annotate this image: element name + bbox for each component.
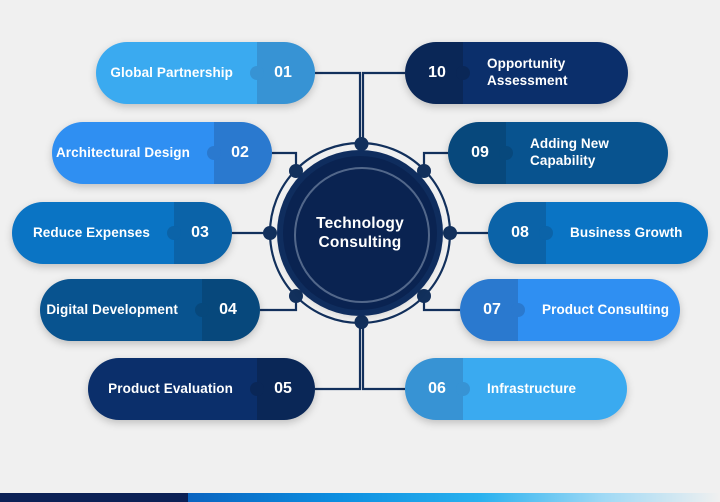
node-dot-bottom (355, 315, 369, 329)
item-02-label: Architectural Design (56, 145, 190, 162)
item-07-number: 07 (483, 301, 501, 319)
item-08[interactable]: 08 Business Growth (488, 202, 708, 264)
item-10-label-line2: Assessment (487, 73, 568, 90)
item-10[interactable]: 10 Opportunity Assessment (405, 42, 628, 104)
item-10-number: 10 (428, 64, 446, 82)
item-06[interactable]: 06 Infrastructure (405, 358, 627, 420)
item-04-number-badge: 04 (202, 279, 260, 341)
item-06-number-badge: 06 (405, 358, 463, 420)
item-07-label: Product Consulting (542, 302, 669, 319)
wire-05 (315, 323, 360, 389)
item-06-body: Infrastructure (463, 358, 627, 420)
item-03-body: Reduce Expenses (12, 202, 174, 264)
item-09-body: Adding New Capability (506, 122, 668, 184)
item-05-number-badge: 05 (257, 358, 315, 420)
item-02-body: Architectural Design (52, 122, 214, 184)
item-10-label-line1: Opportunity (487, 56, 565, 73)
wire-10 (363, 73, 405, 143)
item-01-number: 01 (274, 64, 292, 82)
item-06-number: 06 (428, 380, 446, 398)
item-08-label: Business Growth (570, 225, 683, 242)
node-dot-left (263, 226, 277, 240)
item-09-number: 09 (471, 144, 489, 162)
item-04-label: Digital Development (46, 302, 178, 319)
item-08-body: Business Growth (546, 202, 708, 264)
item-05-label: Product Evaluation (108, 381, 233, 398)
node-dot-upper-left (289, 164, 303, 178)
item-07-body: Product Consulting (518, 279, 680, 341)
bottom-bar-navy-segment (0, 493, 188, 502)
item-07[interactable]: 07 Product Consulting (460, 279, 680, 341)
wire-01 (315, 73, 360, 143)
node-dot-lower-left (289, 289, 303, 303)
wire-06 (363, 323, 405, 389)
item-10-body: Opportunity Assessment (463, 42, 628, 104)
item-08-number-badge: 08 (488, 202, 546, 264)
item-01-label: Global Partnership (110, 65, 233, 82)
infographic-canvas: Technology Consulting Global Partnership… (0, 0, 720, 502)
node-dot-top (355, 137, 369, 151)
item-05[interactable]: Product Evaluation 05 (88, 358, 315, 420)
item-09-label: Adding New Capability (530, 136, 668, 170)
item-01-number-badge: 01 (257, 42, 315, 104)
item-02-number-badge: 02 (214, 122, 272, 184)
hub-title: Technology Consulting (316, 214, 404, 253)
item-01[interactable]: Global Partnership 01 (96, 42, 315, 104)
item-04-body: Digital Development (40, 279, 202, 341)
item-01-body: Global Partnership (96, 42, 257, 104)
node-dot-right (443, 226, 457, 240)
item-07-number-badge: 07 (460, 279, 518, 341)
item-02[interactable]: Architectural Design 02 (52, 122, 272, 184)
node-dot-lower-right (417, 289, 431, 303)
central-hub[interactable]: Technology Consulting (283, 156, 437, 310)
item-02-number: 02 (231, 144, 249, 162)
item-10-number-badge: 10 (405, 42, 463, 104)
item-04-number: 04 (219, 301, 237, 319)
item-05-number: 05 (274, 380, 292, 398)
hub-title-line1: Technology (316, 214, 404, 233)
item-03[interactable]: Reduce Expenses 03 (12, 202, 232, 264)
item-09-number-badge: 09 (448, 122, 506, 184)
bottom-bar-gradient-segment (188, 493, 720, 502)
item-05-body: Product Evaluation (88, 358, 257, 420)
hub-title-line2: Consulting (316, 233, 404, 252)
item-03-label: Reduce Expenses (33, 225, 150, 242)
item-04[interactable]: Digital Development 04 (40, 279, 260, 341)
item-09[interactable]: 09 Adding New Capability (448, 122, 668, 184)
bottom-accent-bar (0, 493, 720, 502)
item-03-number-badge: 03 (174, 202, 232, 264)
item-08-number: 08 (511, 224, 529, 242)
node-dot-upper-right (417, 164, 431, 178)
item-03-number: 03 (191, 224, 209, 242)
item-06-label: Infrastructure (487, 381, 576, 398)
